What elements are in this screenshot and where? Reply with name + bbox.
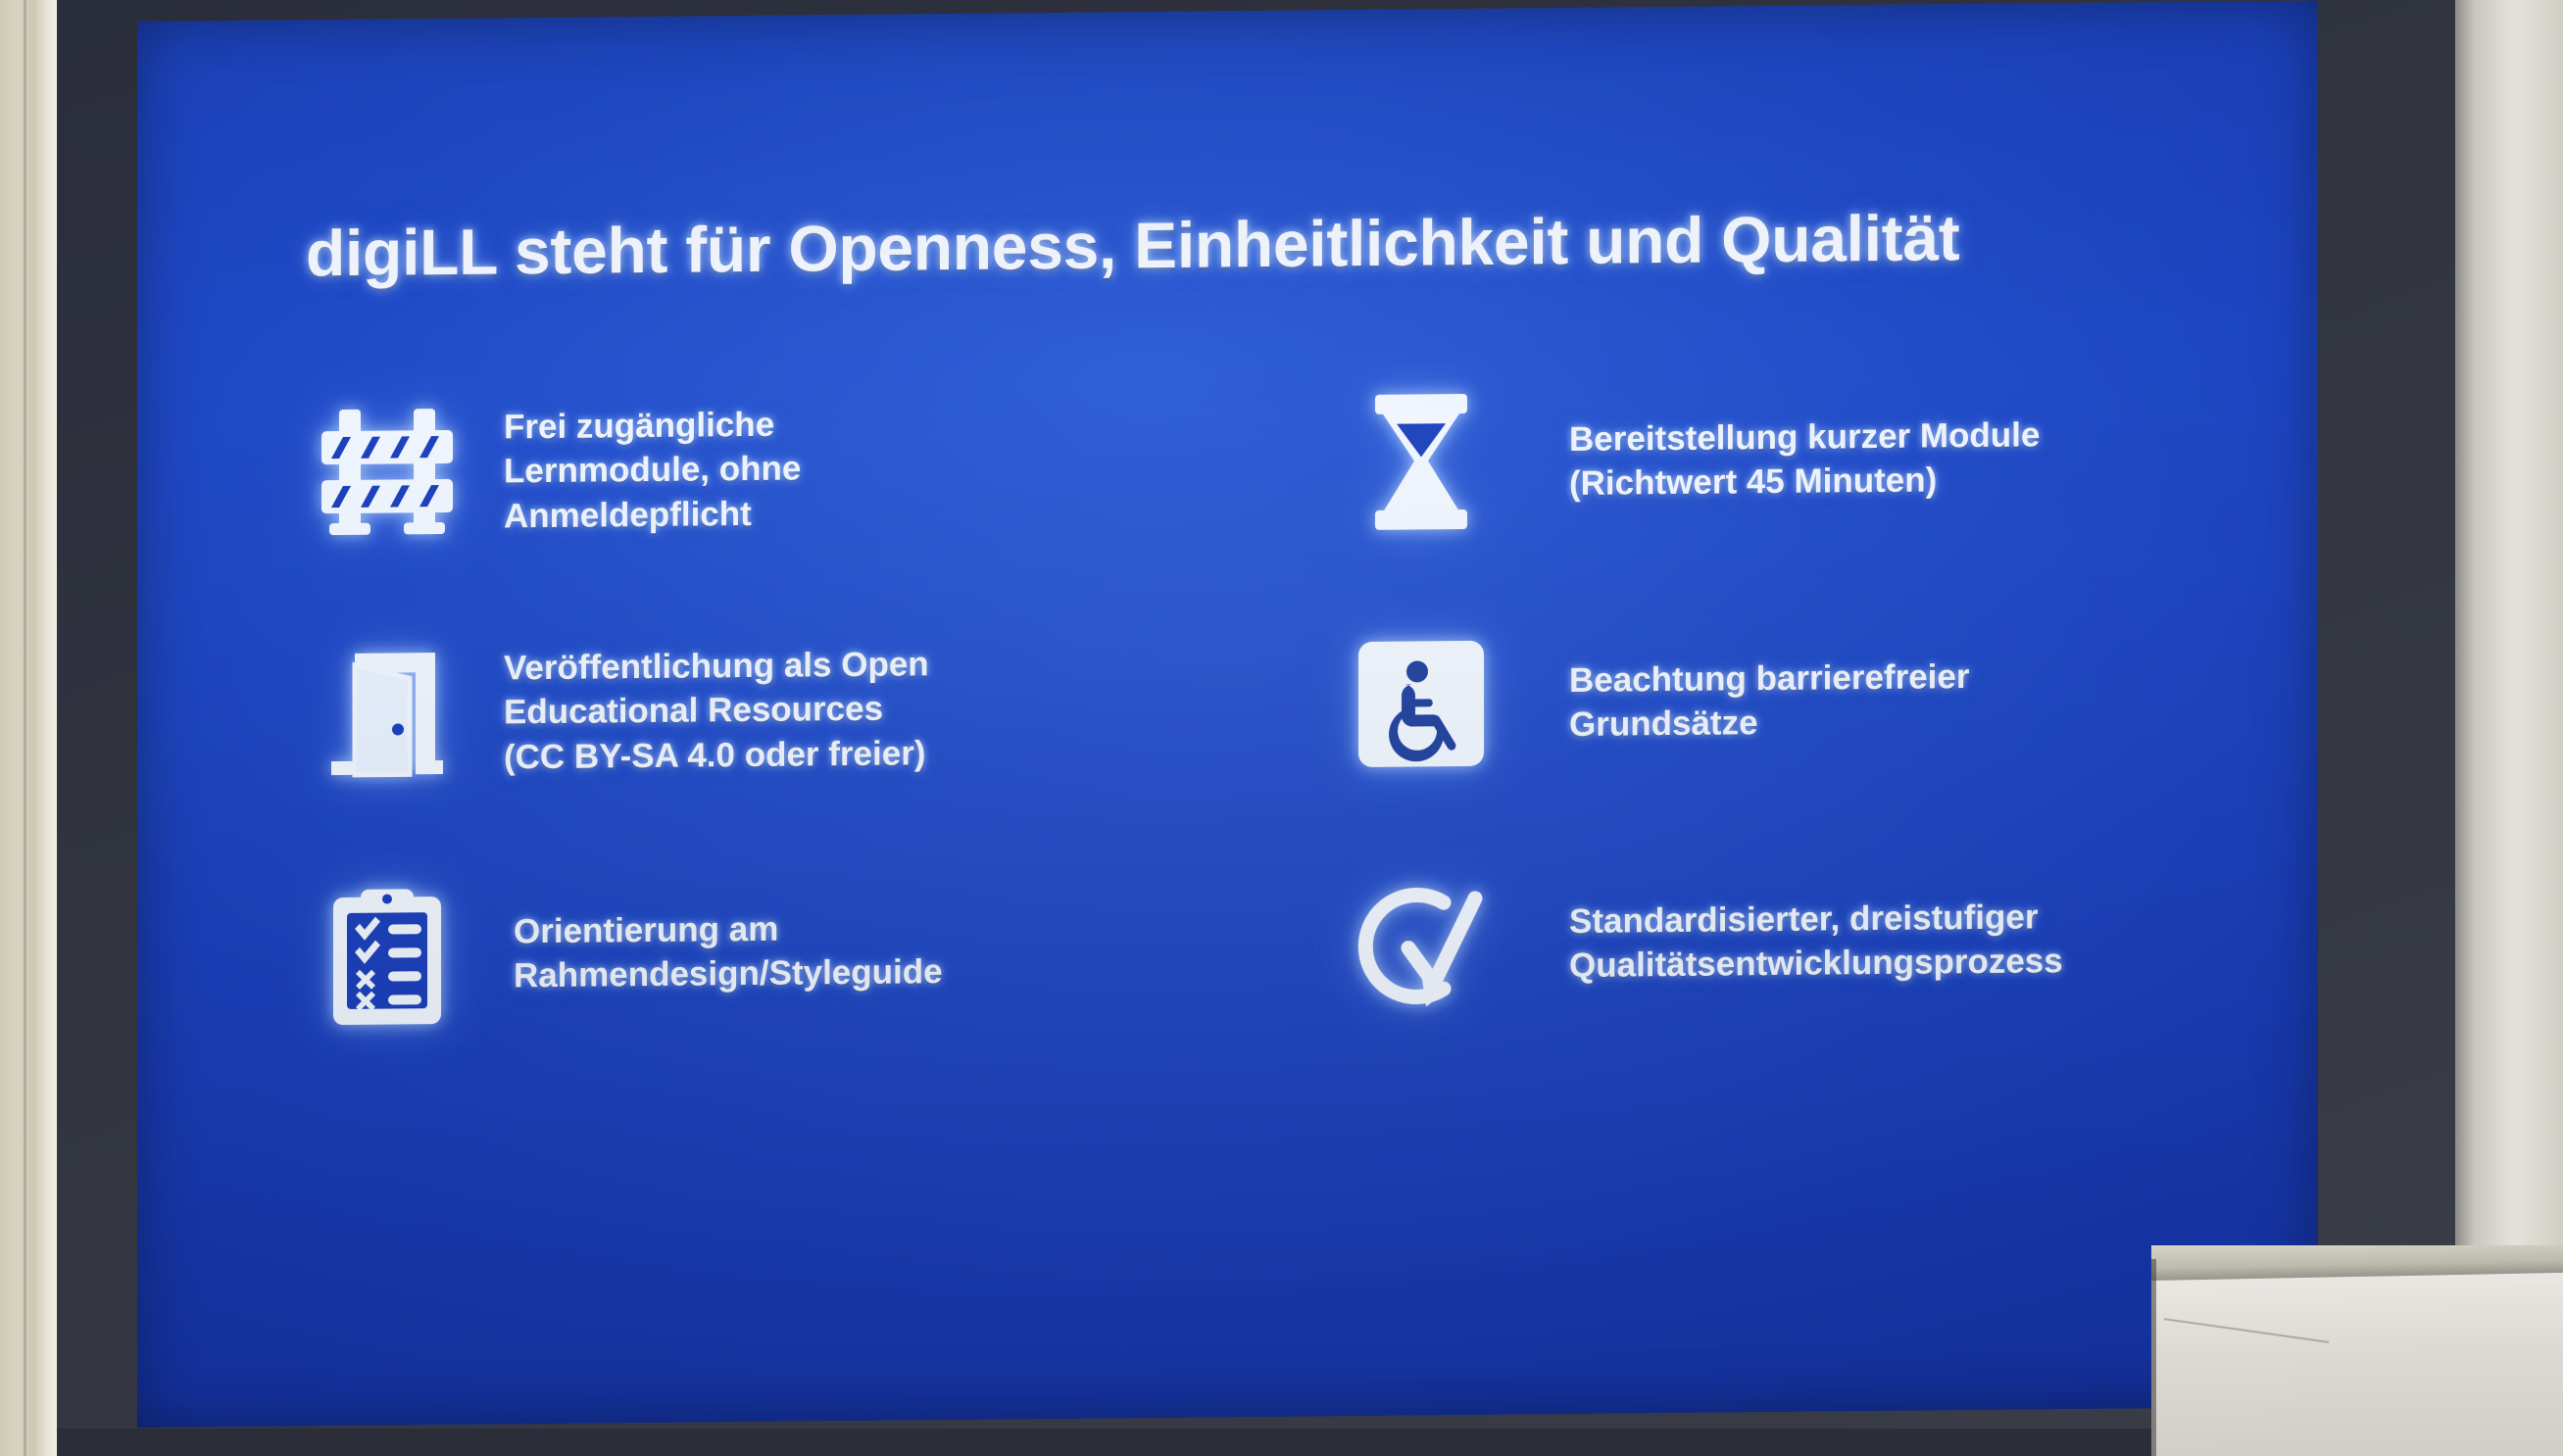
- feature-line: Grundsätze: [1569, 699, 1969, 747]
- feature-item-rahmendesign-styleguide: Orientierung am Rahmendesign/Styleguide: [284, 826, 1210, 1076]
- feature-line: Standardisierter, dreistufiger: [1569, 895, 2063, 944]
- feature-item-barrierefreiheit: Beachtung barrierefreier Grundsätze: [1279, 576, 2205, 826]
- feature-item-veroeffentlichung-oer: Veröffentlichung als Open Educational Re…: [284, 585, 1210, 835]
- feature-line: Rahmendesign/Styleguide: [514, 949, 943, 998]
- feature-line: Qualitätsentwicklungsprozess: [1569, 939, 2063, 988]
- open-door-icon: [284, 645, 490, 784]
- feature-line: Bereitstellung kurzer Module: [1569, 413, 2040, 461]
- feature-text: Frei zugängliche Lernmodule, ohne Anmeld…: [504, 402, 801, 538]
- feature-text: Bereitstellung kurzer Module (Richtwert …: [1569, 413, 2040, 507]
- construction-barrier-icon: [284, 409, 490, 538]
- feature-text: Veröffentlichung als Open Educational Re…: [504, 642, 929, 780]
- feature-line: Lernmodule, ohne: [504, 447, 801, 494]
- presentation-slide[interactable]: digiLL steht für Openness, Einheitlichke…: [137, 1, 2318, 1428]
- feature-item-qualitaetsentwicklungsprozess: Standardisierter, dreistufiger Qualitäts…: [1279, 817, 2205, 1067]
- feature-item-frei-zugaengliche-lernmodule: Frei zugängliche Lernmodule, ohne Anmeld…: [284, 344, 1210, 594]
- feature-text: Beachtung barrierefreier Grundsätze: [1569, 655, 1969, 748]
- feature-line: Veröffentlichung als Open: [504, 642, 929, 691]
- slide-content: digiLL steht für Openness, Einheitlichke…: [137, 1, 2318, 1428]
- feature-line: (Richtwert 45 Minuten): [1569, 457, 2040, 506]
- feature-line: Frei zugängliche: [504, 402, 801, 449]
- feature-text: Standardisierter, dreistufiger Qualitäts…: [1569, 895, 2063, 989]
- feature-text: Orientierung am Rahmendesign/Styleguide: [514, 905, 943, 998]
- feature-line: Beachtung barrierefreier: [1569, 655, 1969, 703]
- slide-title: digiLL steht für Openness, Einheitlichke…: [306, 200, 1959, 290]
- room-scene: digiLL steht für Openness, Einheitlichke…: [0, 0, 2563, 1456]
- cycle-checkmark-icon: [1318, 872, 1524, 1017]
- wheelchair-accessibility-icon: [1318, 638, 1524, 769]
- feature-grid: Frei zugängliche Lernmodule, ohne Anmeld…: [284, 335, 2205, 1077]
- hourglass-icon: [1318, 393, 1524, 532]
- feature-line: (CC BY-SA 4.0 oder freier): [504, 731, 929, 780]
- feature-item-bereitstellung-kurzer-module: Bereitstellung kurzer Module (Richtwert …: [1279, 335, 2205, 585]
- flipchart-left-edge: [2151, 1259, 2156, 1456]
- flipchart-paper: [2151, 1273, 2563, 1456]
- feature-line: Educational Resources: [504, 686, 929, 735]
- feature-line: Orientierung am: [514, 905, 943, 954]
- left-wall: [0, 0, 57, 1456]
- feature-line: Anmeldepflicht: [504, 491, 801, 538]
- wall-seam: [24, 0, 26, 1456]
- right-wall: [2455, 0, 2563, 1456]
- screen-lower-bezel: [57, 1429, 2458, 1456]
- flipchart-board: [2151, 1245, 2563, 1456]
- clipboard-checklist-icon: [284, 883, 490, 1028]
